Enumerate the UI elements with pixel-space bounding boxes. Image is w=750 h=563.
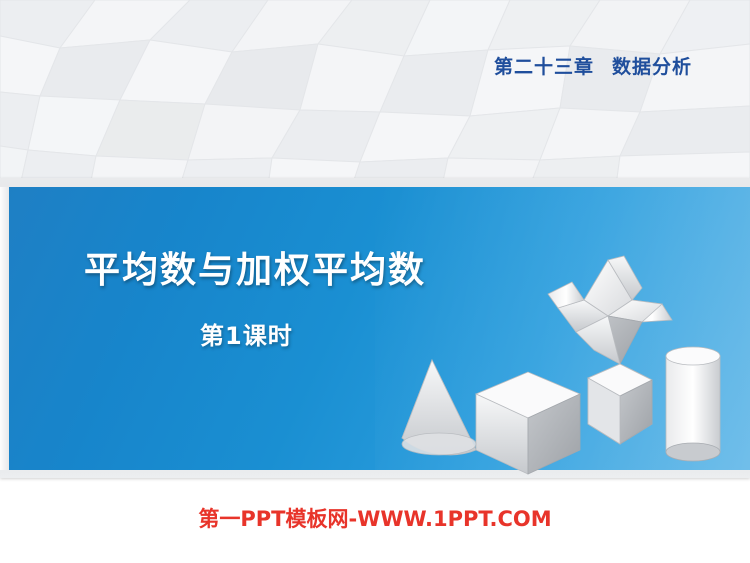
chapter-number: 第二十三章 [494,56,594,78]
slide: 第二十三章数据分析 平均数与加权平均数 第1课时 [0,0,750,563]
banner-blue [0,187,750,470]
chapter-name: 数据分析 [612,56,692,78]
top-polygon-background [0,0,750,186]
polygon-pattern [0,0,750,186]
chapter-header: 第二十三章数据分析 [494,52,692,79]
page-title: 平均数与加权平均数 [84,241,426,293]
page-subtitle: 第1课时 [200,316,293,351]
footer-watermark: 第一PPT模板网-WWW.1PPT.COM [0,503,750,533]
banner-left-edge [0,187,9,470]
